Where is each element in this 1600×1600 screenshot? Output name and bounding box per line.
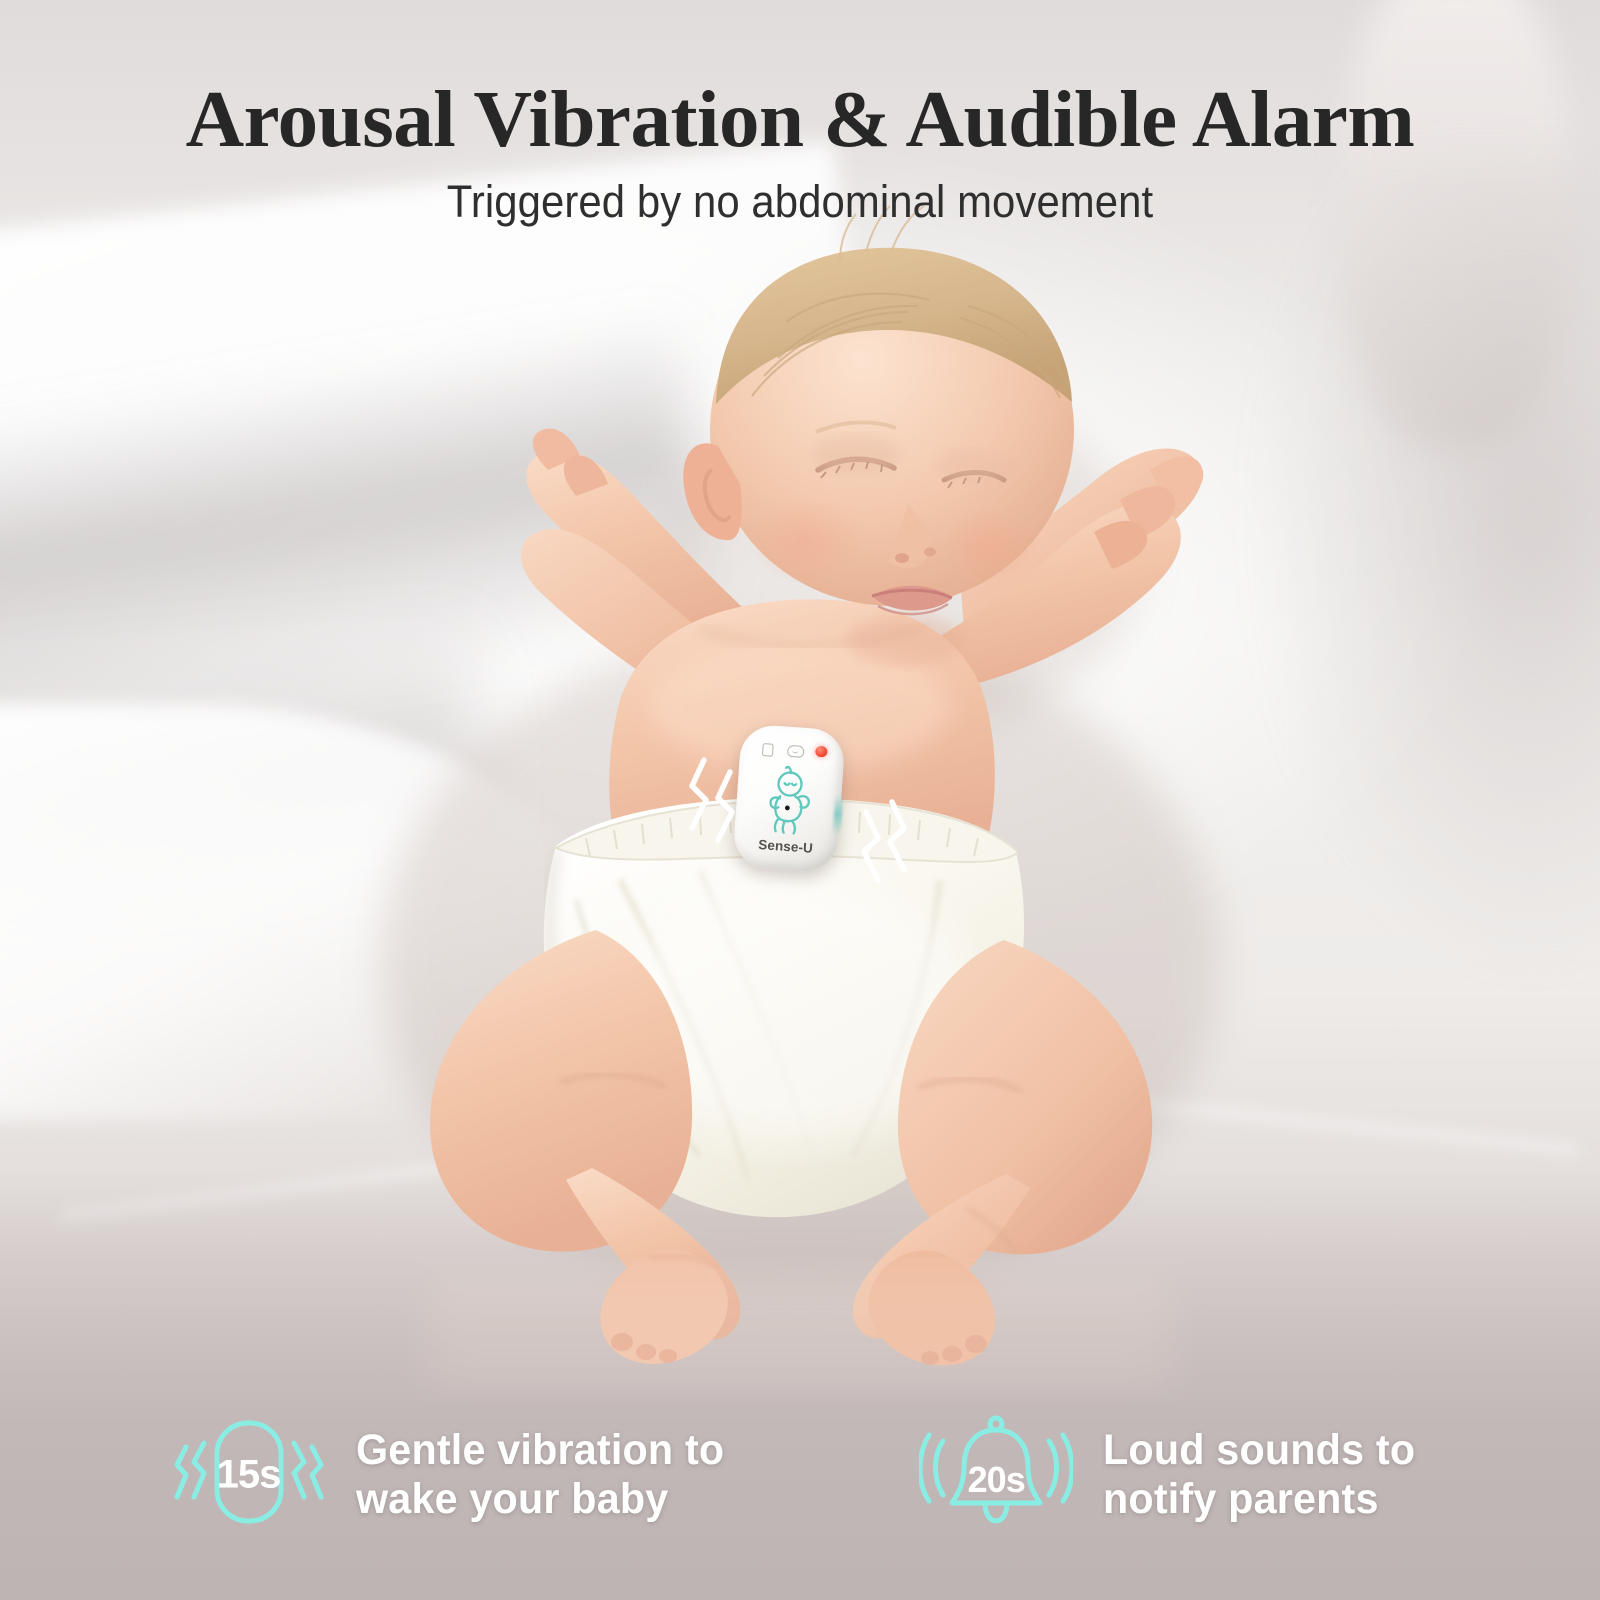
baby-line-art-icon	[755, 761, 822, 839]
feature-item-alarm: 20s Loud sounds to notify parents	[919, 1411, 1428, 1538]
page-subtitle: Triggered by no abdominal movement	[56, 177, 1544, 227]
vibration-feature-line2: wake your baby	[356, 1475, 724, 1524]
header-block: Arousal Vibration & Audible Alarm Trigge…	[0, 78, 1600, 226]
feature-item-vibration: 15s Gentle vibration to wake your baby	[172, 1411, 740, 1538]
vibration-feature-text: Gentle vibration to wake your baby	[356, 1426, 724, 1523]
product-feature-image: Sense-U Arousal Vibration & Audible Alar…	[0, 0, 1600, 1600]
battery-icon	[762, 743, 774, 757]
cloud-icon	[787, 745, 805, 758]
vibration-badge-icon: 15s	[172, 1411, 326, 1538]
bell-alarm-icon: 20s	[919, 1411, 1073, 1538]
alarm-duration-label: 20s	[919, 1459, 1073, 1501]
alarm-feature-line1: Loud sounds to	[1103, 1426, 1415, 1475]
vibration-wave-left	[686, 748, 750, 856]
red-led-indicator	[815, 746, 828, 758]
feature-list: 15s Gentle vibration to wake your baby	[0, 1411, 1600, 1538]
vibration-duration-label: 15s	[172, 1452, 326, 1497]
alarm-feature-line2: notify parents	[1103, 1475, 1415, 1524]
alarm-feature-text: Loud sounds to notify parents	[1103, 1426, 1415, 1523]
page-title: Arousal Vibration & Audible Alarm	[0, 78, 1600, 161]
vibration-feature-line1: Gentle vibration to	[356, 1426, 724, 1475]
vibration-wave-right	[846, 792, 910, 900]
